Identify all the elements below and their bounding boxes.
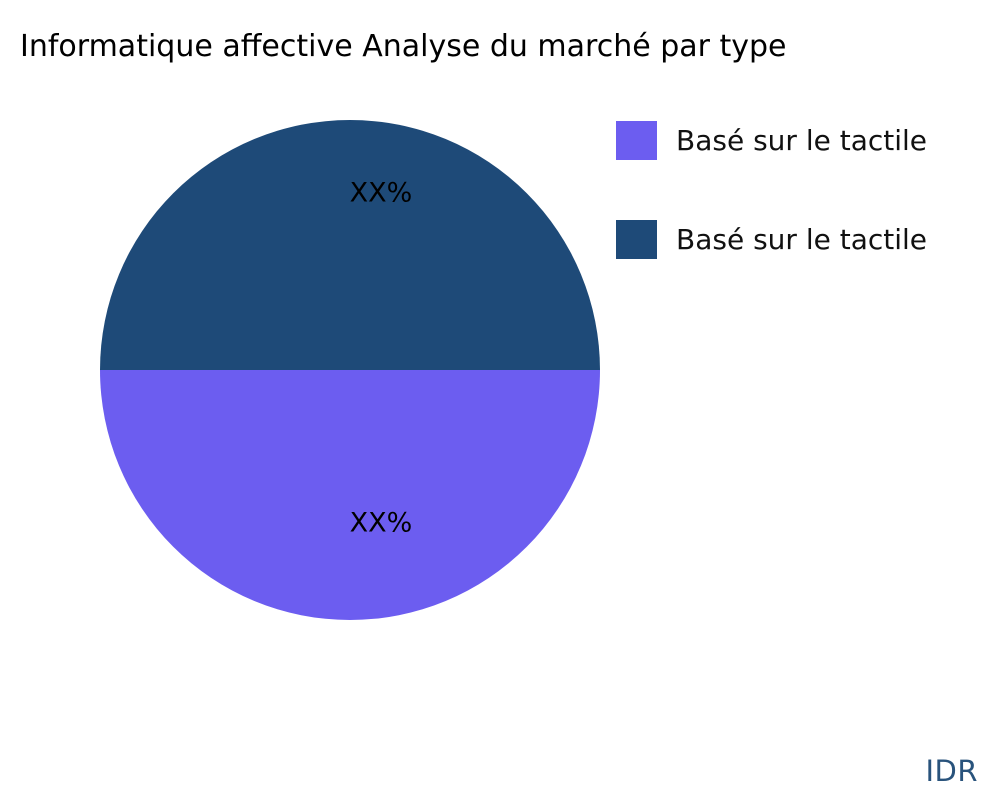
watermark-label: IDR — [925, 754, 978, 788]
pie-plot-area: XX% XX% — [100, 120, 600, 620]
legend-color-swatch-purple — [616, 121, 657, 160]
legend-item-label-0: Basé sur le tactile — [676, 125, 927, 157]
pie-slice-label-top: XX% — [350, 180, 413, 207]
pie-slice-label-bottom: XX% — [350, 510, 413, 537]
legend-color-swatch-dark-blue — [616, 220, 657, 259]
legend-item-label-1: Basé sur le tactile — [676, 224, 927, 256]
pie-slice-basé-sur-le-tactile-top[interactable] — [100, 120, 600, 370]
legend-item-0[interactable]: Basé sur le tactile — [616, 121, 927, 160]
legend-item-1[interactable]: Basé sur le tactile — [616, 220, 927, 259]
chart-title: Informatique affective Analyse du marché… — [20, 27, 787, 67]
pie-slice-basé-sur-le-tactile-bottom[interactable] — [100, 370, 600, 620]
pie-chart-figure: Informatique affective Analyse du marché… — [0, 0, 1000, 800]
